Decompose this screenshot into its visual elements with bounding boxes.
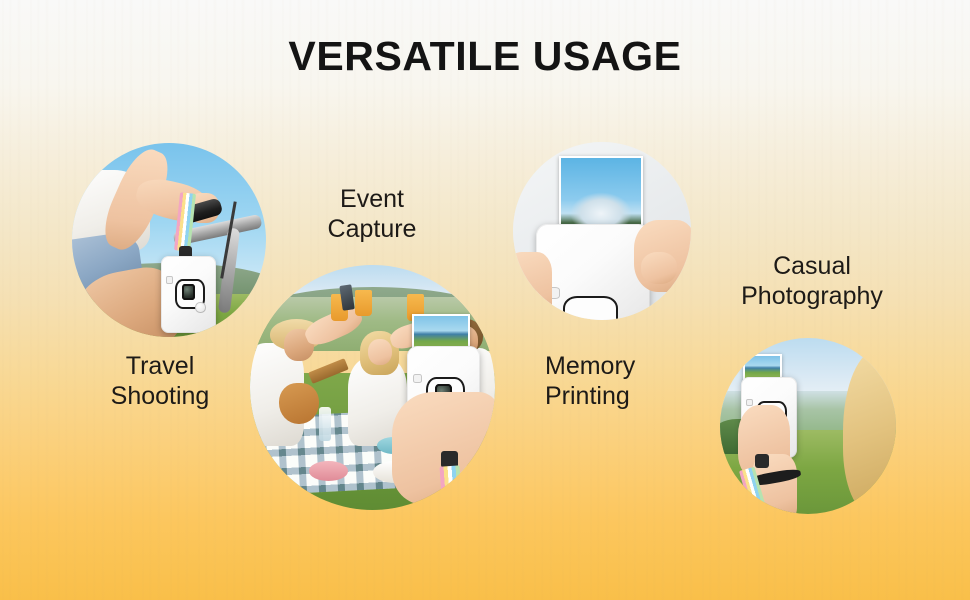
camera-lens-ring [563,296,617,320]
plate-pink [309,461,348,481]
camera-flash [746,399,753,407]
instant-camera [536,224,650,320]
page-title: VERSATILE USAGE [0,33,970,80]
feature-image-casual-photography [720,338,896,514]
scene-casual-shot [720,338,896,514]
drink-cup-2 [355,290,372,317]
picnic-basket [328,417,372,456]
instant-camera [161,256,215,334]
scene-photo-printing [513,142,691,320]
feature-label-casual-photography: Casual Photography [702,252,922,311]
strap-connector [755,454,769,468]
thumb [641,252,677,284]
ukulele-body [279,383,318,425]
photo-image [745,356,780,379]
scene-picnic [250,265,495,510]
feature-label-memory-printing: Memory Printing [545,352,725,411]
feature-image-event-capture [250,265,495,510]
feature-label-travel-shooting: Travel Shooting [60,352,260,411]
camera-lens [182,284,194,300]
water-bottle [319,407,331,441]
camera-flash [166,276,173,283]
camera-wrist-strap [440,465,463,510]
camera-shutter-button [195,302,205,312]
versatile-usage-poster: VERSATILE USAGE [0,0,970,600]
feature-image-travel-shooting [72,143,266,337]
feature-label-event-capture: Event Capture [282,185,462,244]
person-center-face [368,339,393,366]
feature-image-memory-printing [513,142,691,320]
scene-bicycle-ride [72,143,266,337]
camera-flash [413,374,423,384]
supporting-hand [513,252,552,320]
